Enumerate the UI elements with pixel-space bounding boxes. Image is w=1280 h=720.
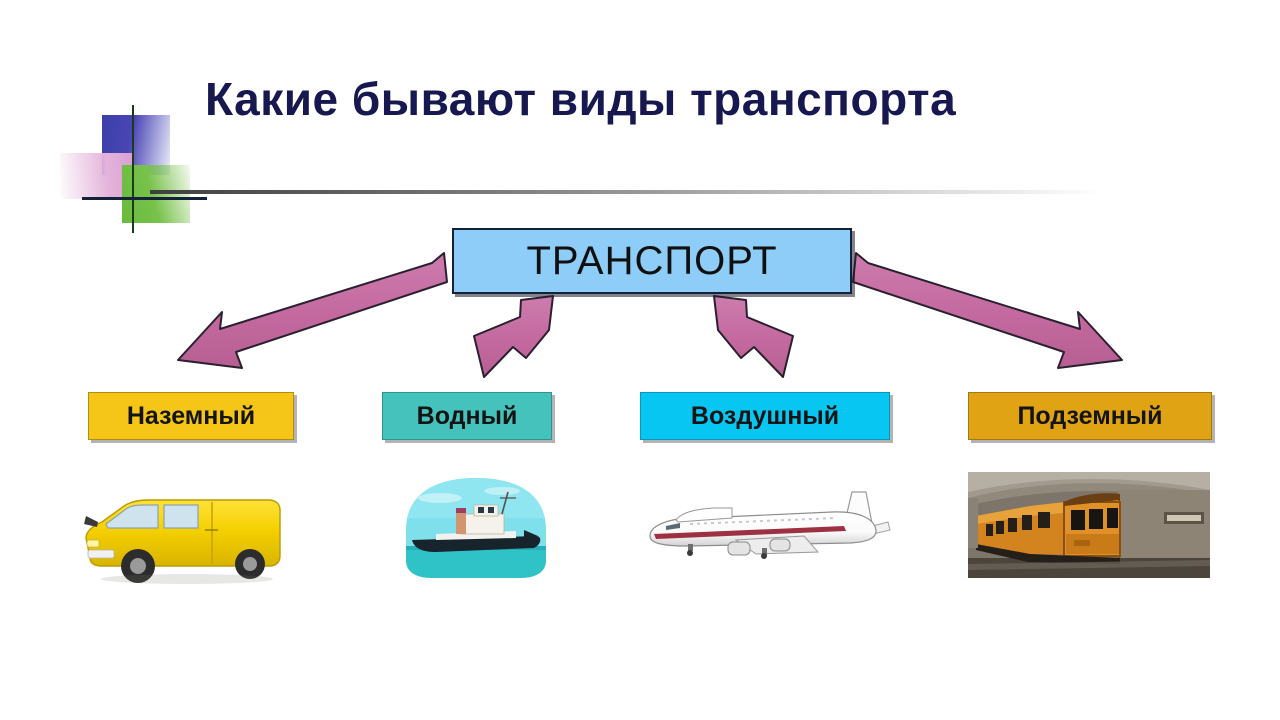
category-box-underground[interactable]: Подземный <box>968 392 1212 440</box>
connector-arrows <box>0 0 1280 720</box>
category-box-ground[interactable]: Наземный <box>88 392 294 440</box>
arrow-to-naземный <box>178 253 447 368</box>
node-transport-root[interactable]: ТРАНСПОРТ <box>452 228 852 294</box>
arrow-to-подземный <box>853 253 1122 368</box>
slide-canvas: Какие бывают виды транспорта ТРАНС <box>0 0 1280 720</box>
category-box-air[interactable]: Воздушный <box>640 392 890 440</box>
illustration-tugboat <box>396 474 556 584</box>
illustration-yellow-van <box>72 480 302 590</box>
illustration-metro-train <box>968 472 1210 578</box>
illustration-airliner <box>636 482 892 574</box>
category-box-water[interactable]: Водный <box>382 392 552 440</box>
arrow-to-водный <box>474 296 553 377</box>
arrow-to-воздушный <box>714 296 793 377</box>
